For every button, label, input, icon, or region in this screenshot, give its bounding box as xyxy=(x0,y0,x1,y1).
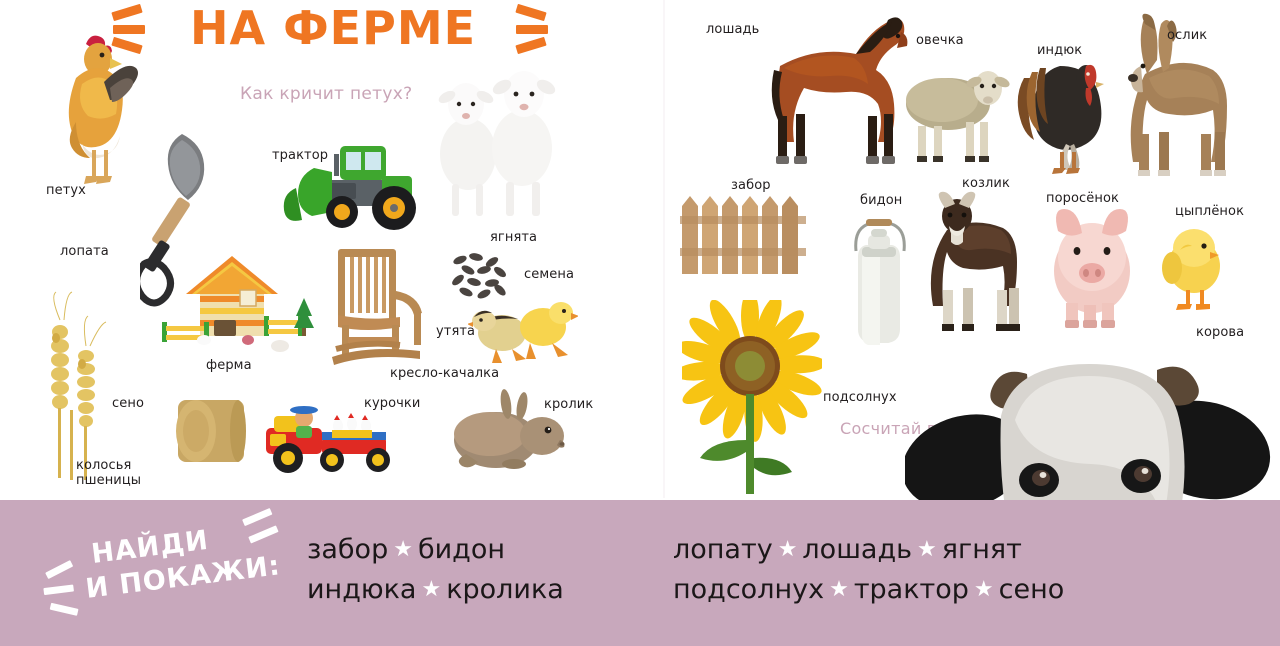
label-donkey: ослик xyxy=(1167,28,1207,43)
wheat-ears-image xyxy=(38,290,108,480)
find-word[interactable]: сено xyxy=(999,574,1065,605)
rocking-chair-image xyxy=(318,245,438,375)
star-icon: ★ xyxy=(824,577,854,602)
fence-image xyxy=(680,192,808,277)
label-piglet: поросёнок xyxy=(1046,191,1119,206)
dash-left-3-icon xyxy=(50,603,79,616)
farm-spread-page: НА ФЕРМЕ Как кричит петух? петух лопата xyxy=(0,0,1280,646)
dash-left-1-icon xyxy=(45,560,73,579)
label-wheat: колосья пшеницы xyxy=(76,458,141,488)
label-turkey: индюк xyxy=(1037,43,1082,58)
find-word[interactable]: ягнят xyxy=(942,534,1022,565)
find-list-column-1: забор★бидон индюка★кролика xyxy=(307,530,564,610)
sunflower-image xyxy=(682,300,822,495)
label-rabbit: кролик xyxy=(544,397,593,412)
page-gutter xyxy=(663,0,665,498)
find-list-row: забор★бидон xyxy=(307,530,564,570)
label-seeds: семена xyxy=(524,267,574,282)
turkey-image xyxy=(1010,48,1110,178)
find-word[interactable]: лопату xyxy=(673,534,773,565)
find-list-column-2: лопату★лошадь★ягнят подсолнух★трактор★се… xyxy=(673,530,1064,610)
find-and-show-heading: НАЙДИ И ПОКАЖИ: xyxy=(52,508,331,628)
label-fence: забор xyxy=(731,178,771,193)
milk-can-image xyxy=(848,205,910,350)
burst-dashes-right-icon xyxy=(512,6,558,54)
dash-left-2-icon xyxy=(43,584,74,595)
label-sunflower: подсолнух xyxy=(823,390,897,405)
label-chick: цыплёнок xyxy=(1175,204,1244,219)
label-lambs: ягнята xyxy=(490,230,537,245)
label-cow: корова xyxy=(1196,325,1244,340)
star-icon: ★ xyxy=(912,537,942,562)
star-icon: ★ xyxy=(969,577,999,602)
find-word[interactable]: подсолнух xyxy=(673,574,824,605)
goat-image xyxy=(925,190,1030,335)
find-list-row: лопату★лошадь★ягнят xyxy=(673,530,1064,570)
star-icon: ★ xyxy=(773,537,803,562)
find-word[interactable]: кролика xyxy=(446,574,564,605)
piglet-image xyxy=(1040,205,1145,330)
label-sheep: овечка xyxy=(916,33,964,48)
label-horse: лошадь xyxy=(706,22,759,37)
sheep-image xyxy=(900,60,1010,165)
label-tractor: трактор xyxy=(272,148,328,163)
star-icon: ★ xyxy=(416,577,446,602)
page-title: НА ФЕРМЕ xyxy=(108,2,558,58)
chick-image xyxy=(1160,222,1230,317)
find-word[interactable]: бидон xyxy=(418,534,505,565)
find-and-show-banner: НАЙДИ И ПОКАЖИ: забор★бидон индюка★кроли… xyxy=(0,500,1280,646)
find-word[interactable]: забор xyxy=(307,534,388,565)
ducklings-image xyxy=(468,295,578,370)
star-icon: ★ xyxy=(388,537,418,562)
label-milk-can: бидон xyxy=(860,193,902,208)
label-hens: курочки xyxy=(364,396,420,411)
label-goat: козлик xyxy=(962,176,1010,191)
dash-right-2-icon xyxy=(248,525,278,543)
find-list-row: подсолнух★трактор★сено xyxy=(673,570,1064,610)
find-word[interactable]: индюка xyxy=(307,574,416,605)
farm-house-image xyxy=(152,250,322,360)
prompt-rooster-sound: Как кричит петух? xyxy=(240,84,412,105)
dash-right-1-icon xyxy=(242,508,272,526)
label-spade: лопата xyxy=(60,244,109,259)
label-ducklings: утята xyxy=(436,324,475,339)
find-word[interactable]: лошадь xyxy=(802,534,912,565)
hay-bale-image xyxy=(168,388,258,473)
lambs-image xyxy=(432,62,562,222)
page-title-text: НА ФЕРМЕ xyxy=(158,0,508,56)
label-farm: ферма xyxy=(206,358,252,373)
label-rooster: петух xyxy=(46,183,86,198)
rooster-image xyxy=(46,26,142,196)
find-word[interactable]: трактор xyxy=(854,574,969,605)
find-list-row: индюка★кролика xyxy=(307,570,564,610)
label-hay: сено xyxy=(112,396,144,411)
